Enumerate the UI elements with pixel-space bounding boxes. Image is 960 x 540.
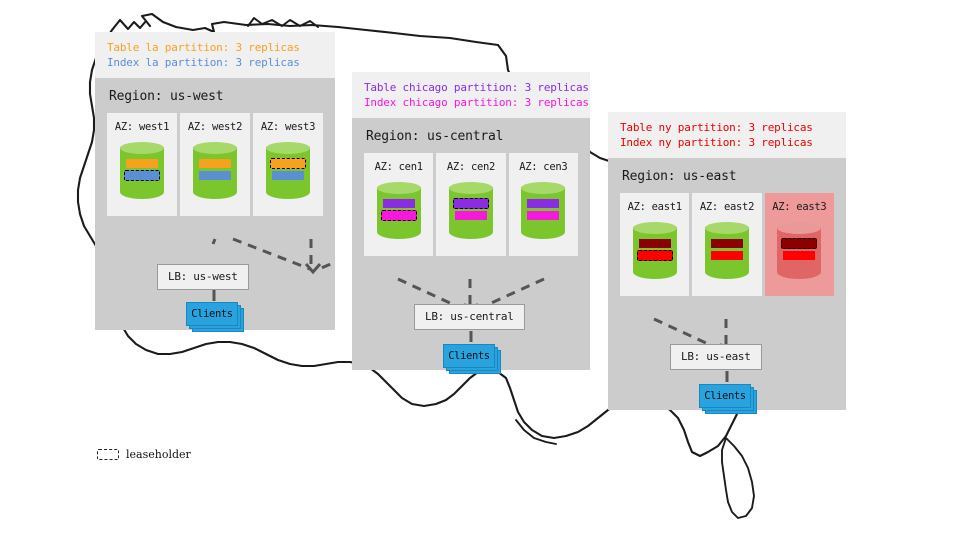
- dashed-rect-icon: [97, 449, 119, 460]
- replica-index-leaseholder: [637, 250, 673, 261]
- replica-index: [783, 251, 815, 260]
- replica-index-leaseholder: [124, 170, 160, 181]
- region-panel-us-west: Table la partition: 3 replicas Index la …: [95, 32, 335, 330]
- az-cen1[interactable]: AZ: cen1: [364, 153, 433, 256]
- node-cylinder-failed[interactable]: [777, 222, 821, 284]
- az-label: AZ: cen2: [447, 161, 495, 173]
- region-title-us-west: Region: us-west: [95, 78, 335, 113]
- load-balancer-us-east[interactable]: LB: us-east: [670, 344, 762, 370]
- replica-index: [527, 211, 559, 220]
- replica-index: [272, 171, 304, 180]
- load-balancer-us-central[interactable]: LB: us-central: [414, 304, 525, 330]
- region-title-us-east: Region: us-east: [608, 158, 846, 193]
- cylinder-top: [377, 182, 421, 194]
- node-cylinder[interactable]: [705, 222, 749, 284]
- az-cen3[interactable]: AZ: cen3: [509, 153, 578, 256]
- replica-table: [527, 199, 559, 208]
- clients-box-us-west[interactable]: Clients: [186, 302, 242, 328]
- az-label: AZ: east3: [772, 201, 826, 213]
- cylinder-top: [266, 142, 310, 154]
- region-legend-us-central: Table chicago partition: 3 replicas Inde…: [352, 72, 590, 118]
- replica-index: [711, 251, 743, 260]
- replica-table-leaseholder: [270, 158, 306, 169]
- az-label: AZ: east2: [700, 201, 754, 213]
- region-title-us-central: Region: us-central: [352, 118, 590, 153]
- replica-index: [199, 171, 231, 180]
- az-east3[interactable]: AZ: east3: [765, 193, 834, 296]
- node-cylinder[interactable]: [449, 182, 493, 244]
- legend-line-index: Index la partition: 3 replicas: [107, 56, 323, 71]
- replica-table: [639, 239, 671, 248]
- replica-table-leaseholder: [453, 198, 489, 209]
- region-legend-us-east: Table ny partition: 3 replicas Index ny …: [608, 112, 846, 158]
- az-east1[interactable]: AZ: east1: [620, 193, 689, 296]
- region-panel-us-central: Table chicago partition: 3 replicas Inde…: [352, 72, 590, 370]
- node-cylinder[interactable]: [193, 142, 237, 204]
- az-label: AZ: west3: [261, 121, 315, 133]
- node-cylinder[interactable]: [266, 142, 310, 204]
- az-row-us-central: AZ: cen1 AZ: cen2 AZ: cen3: [352, 153, 590, 256]
- cylinder-top: [633, 222, 677, 234]
- clients-box-us-east[interactable]: Clients: [699, 384, 755, 410]
- region-legend-us-west: Table la partition: 3 replicas Index la …: [95, 32, 335, 78]
- legend-line-table: Table la partition: 3 replicas: [107, 41, 323, 56]
- cylinder-top: [449, 182, 493, 194]
- az-west1[interactable]: AZ: west1: [107, 113, 177, 216]
- node-cylinder[interactable]: [633, 222, 677, 284]
- replica-table: [711, 239, 743, 248]
- az-label: AZ: west2: [188, 121, 242, 133]
- legend-line-table: Table chicago partition: 3 replicas: [364, 81, 578, 96]
- az-cen2[interactable]: AZ: cen2: [436, 153, 505, 256]
- cylinder-top: [193, 142, 237, 154]
- az-west3[interactable]: AZ: west3: [253, 113, 323, 216]
- az-label: AZ: east1: [628, 201, 682, 213]
- cylinder-top: [705, 222, 749, 234]
- node-cylinder[interactable]: [377, 182, 421, 244]
- leaseholder-legend-label: leaseholder: [126, 448, 191, 461]
- az-row-us-east: AZ: east1 AZ: east2 AZ: east3: [608, 193, 846, 296]
- replica-table: [199, 159, 231, 168]
- az-east2[interactable]: AZ: east2: [692, 193, 761, 296]
- clients-box-us-central[interactable]: Clients: [443, 344, 499, 370]
- az-west2[interactable]: AZ: west2: [180, 113, 250, 216]
- az-label: AZ: cen1: [375, 161, 423, 173]
- replica-table-leaseholder: [781, 238, 817, 249]
- node-cylinder[interactable]: [120, 142, 164, 204]
- az-label: AZ: west1: [115, 121, 169, 133]
- replica-index-leaseholder: [381, 210, 417, 221]
- legend-line-index: Index ny partition: 3 replicas: [620, 136, 834, 151]
- az-row-us-west: AZ: west1 AZ: west2 AZ: west3: [95, 113, 335, 216]
- cylinder-top: [120, 142, 164, 154]
- leaseholder-legend: leaseholder: [97, 448, 191, 461]
- clients-label: Clients: [699, 384, 751, 408]
- replica-table: [126, 159, 158, 168]
- az-label: AZ: cen3: [519, 161, 567, 173]
- clients-label: Clients: [186, 302, 238, 326]
- load-balancer-us-west[interactable]: LB: us-west: [157, 264, 249, 290]
- clients-label: Clients: [443, 344, 495, 368]
- replica-index: [455, 211, 487, 220]
- replica-table: [383, 199, 415, 208]
- legend-line-index: Index chicago partition: 3 replicas: [364, 96, 578, 111]
- node-cylinder[interactable]: [521, 182, 565, 244]
- legend-line-table: Table ny partition: 3 replicas: [620, 121, 834, 136]
- region-panel-us-east: Table ny partition: 3 replicas Index ny …: [608, 112, 846, 410]
- diagram-canvas: Table la partition: 3 replicas Index la …: [0, 0, 960, 540]
